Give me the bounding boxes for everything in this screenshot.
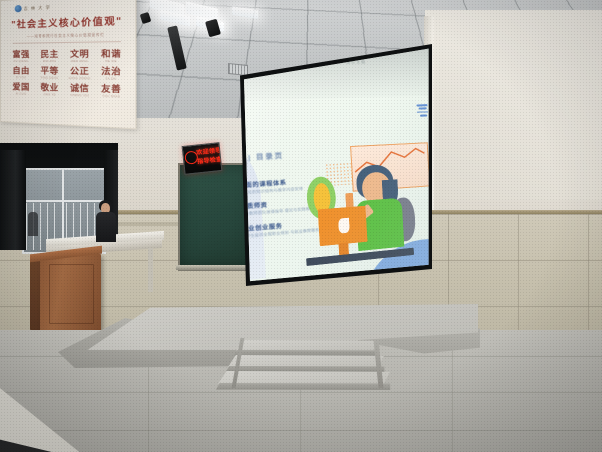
value-pinyin: FU QIANG	[8, 60, 35, 63]
item-number: 01	[232, 180, 235, 193]
university-name: 吉 林 大 学	[24, 4, 51, 11]
value-word: 法治	[96, 65, 127, 77]
seated-person-background	[28, 212, 38, 236]
value-cell: 自由ZI YOU	[8, 65, 35, 80]
item-number: 03	[232, 224, 238, 237]
projection-screen[interactable]: PPT 演示文稿 内容 | 目录页 01 全面的课程体系 系统化的知识结构与教学…	[232, 44, 432, 286]
value-cell: 法治FA ZHI	[96, 65, 127, 81]
stair-step-2	[228, 355, 384, 368]
value-pinyin: WEN MING	[65, 60, 95, 63]
value-cell: 和谐HE XIE	[96, 48, 127, 64]
core-values-grid: 富强FU QIANG 民主MIN ZHU 文明WEN MING 和谐HE XIE…	[8, 48, 127, 99]
stair-riser-3	[216, 383, 392, 390]
value-cell: 友善YOU SHAN	[96, 83, 127, 99]
poster-divider	[13, 41, 121, 44]
value-word: 诚信	[65, 82, 95, 94]
right-upper-wall	[425, 10, 602, 200]
value-pinyin: FA ZHI	[96, 77, 127, 81]
led-line-2: 指导检查工作	[197, 156, 221, 166]
hamburger-menu-icon[interactable]	[416, 104, 428, 118]
university-emblem-icon	[15, 5, 22, 12]
value-word: 公正	[65, 65, 95, 77]
value-word: 平等	[36, 65, 64, 77]
stair-riser-2	[226, 366, 386, 372]
value-word: 富强	[8, 49, 35, 60]
value-pinyin: MIN ZHU	[36, 60, 64, 63]
poster-title: "社会主义核心价值观"	[7, 13, 128, 31]
item-number: 02	[232, 202, 237, 215]
value-word: 民主	[36, 48, 64, 60]
poster-logo: 吉 林 大 学	[15, 0, 136, 12]
illustration-laptop-mark	[338, 217, 349, 233]
value-word: 友善	[96, 83, 127, 96]
value-pinyin: JING YE	[36, 93, 64, 97]
illustration-laptop	[317, 206, 367, 246]
value-pinyin: GONG ZHENG	[65, 77, 95, 81]
value-word: 文明	[65, 48, 95, 60]
value-cell: 诚信CHENG XIN	[65, 82, 95, 98]
screen-surface[interactable]: PPT 演示文稿 内容 | 目录页 01 全面的课程体系 系统化的知识结构与教学…	[232, 44, 432, 286]
value-pinyin: PING DENG	[36, 76, 64, 80]
classroom-photo-scene: 欢迎领导 莅临 指导检查工作 PPT 演示文稿 内容 | 目录页	[0, 0, 602, 452]
stair-step-3	[218, 371, 390, 385]
standing-presenter	[96, 212, 116, 242]
value-pinyin: HE XIE	[96, 60, 127, 63]
value-pinyin: CHENG XIN	[65, 94, 95, 98]
lectern-panel	[49, 264, 94, 324]
value-cell: 文明WEN MING	[65, 48, 95, 63]
no-smoking-icon	[184, 150, 198, 164]
window-curtain	[0, 150, 26, 250]
value-cell: 敬业JING YE	[36, 82, 64, 97]
value-word: 和谐	[96, 48, 127, 60]
value-word: 自由	[8, 65, 35, 76]
led-scrolling-sign: 欢迎领导 莅临 指导检查工作	[182, 142, 223, 175]
core-values-poster: 吉 林 大 学 "社会主义核心价值观" ——培育和践行社会主义核心价值观宣传栏 …	[0, 0, 137, 129]
presentation-slide: PPT 演示文稿 内容 | 目录页 01 全面的课程体系 系统化的知识结构与教学…	[232, 44, 432, 286]
value-pinyin: AI GUO	[8, 92, 35, 96]
value-pinyin: ZI YOU	[8, 76, 35, 79]
value-word: 爱国	[8, 81, 35, 93]
poster-subtitle: ——培育和践行社会主义核心价值观宣传栏	[1, 31, 135, 39]
slide-title: 内容 | 目录页	[232, 150, 284, 163]
value-cell: 民主MIN ZHU	[36, 48, 64, 63]
front-desk-leg	[148, 248, 153, 292]
wooden-lectern	[40, 254, 101, 332]
value-cell: 爱国AI GUO	[8, 81, 35, 96]
value-cell: 平等PING DENG	[36, 65, 64, 80]
value-pinyin: YOU SHAN	[96, 95, 127, 99]
value-cell: 富强FU QIANG	[8, 49, 35, 63]
value-word: 敬业	[36, 82, 64, 94]
value-cell: 公正GONG ZHENG	[65, 65, 95, 80]
stair-riser-1	[234, 350, 380, 356]
